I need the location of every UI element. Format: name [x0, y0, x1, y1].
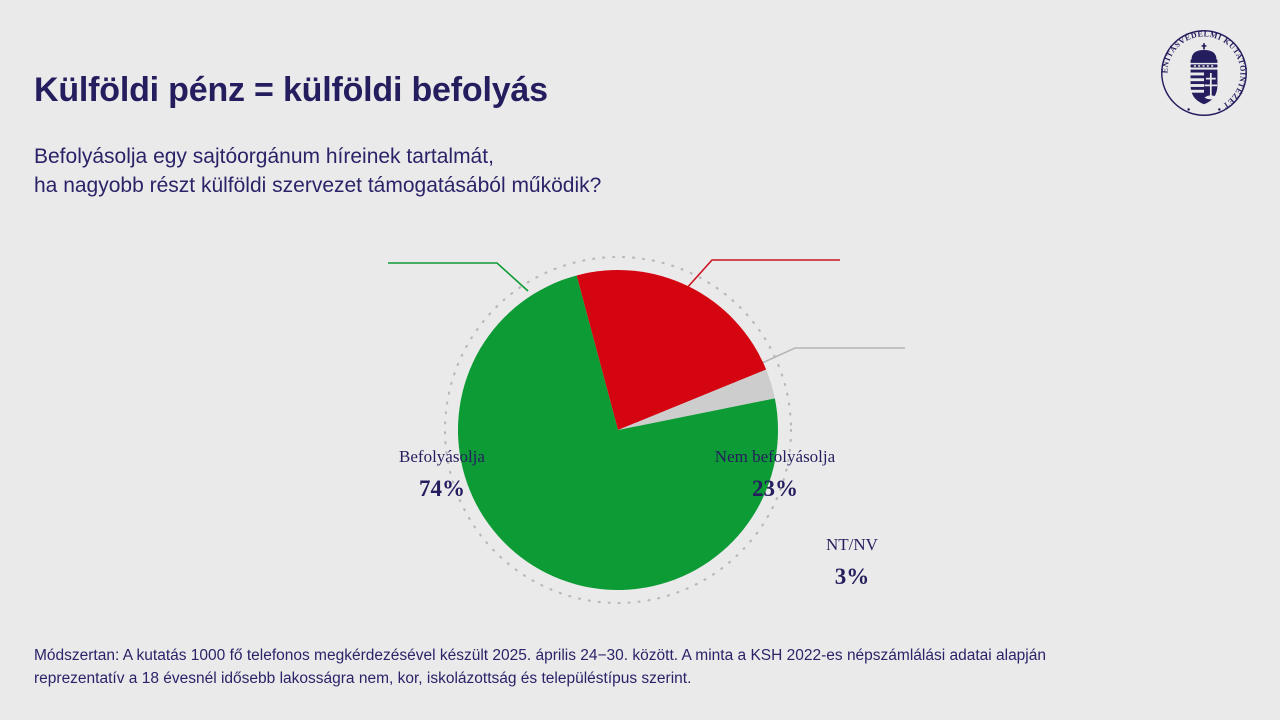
- leader-line-befolyasolja: [388, 263, 528, 291]
- footnote-line-1: Módszertan: A kutatás 1000 fő telefonos …: [34, 644, 1248, 667]
- szuverenitasvedelmi-kutatointezet-logo: SZUVERENITÁSVÉDELMI KUTATÓINTÉZET: [1156, 25, 1252, 121]
- pie-chart: Befolyásolja 74% Nem befolyásolja 23% NT…: [0, 215, 1280, 625]
- question-subtitle: Befolyásolja egy sajtóorgánum híreinek t…: [34, 142, 601, 200]
- leader-line-nt-nv: [762, 348, 905, 363]
- callout-nem-befolyasolja: Nem befolyásolja 23%: [708, 447, 842, 502]
- pie-chart-svg: [0, 215, 1280, 625]
- hungarian-coat-of-arms-icon: [1191, 43, 1218, 105]
- subtitle-line-1: Befolyásolja egy sajtóorgánum híreinek t…: [34, 142, 601, 171]
- logo-dot-right: [1218, 108, 1220, 110]
- callout-value-befolyasolja: 74%: [382, 476, 502, 502]
- callout-befolyasolja: Befolyásolja 74%: [382, 447, 502, 502]
- footnote-line-2: reprezentatív a 18 évesnél idősebb lakos…: [34, 667, 1248, 690]
- callout-label-nem-befolyasolja: Nem befolyásolja: [708, 447, 842, 467]
- leader-line-nem-befolyasolja: [686, 260, 840, 289]
- subtitle-line-2: ha nagyobb részt külföldi szervezet támo…: [34, 171, 601, 200]
- callout-label-nt-nv: NT/NV: [796, 535, 908, 555]
- callout-nt-nv: NT/NV 3%: [796, 535, 908, 590]
- callout-value-nem-befolyasolja: 23%: [708, 476, 842, 502]
- page-title: Külföldi pénz = külföldi befolyás: [34, 71, 548, 110]
- methodology-footnote: Módszertan: A kutatás 1000 fő telefonos …: [34, 644, 1248, 690]
- logo-dot-left: [1187, 108, 1189, 110]
- callout-value-nt-nv: 3%: [796, 564, 908, 590]
- callout-label-befolyasolja: Befolyásolja: [382, 447, 502, 467]
- slide-root: Külföldi pénz = külföldi befolyás Befoly…: [0, 0, 1280, 720]
